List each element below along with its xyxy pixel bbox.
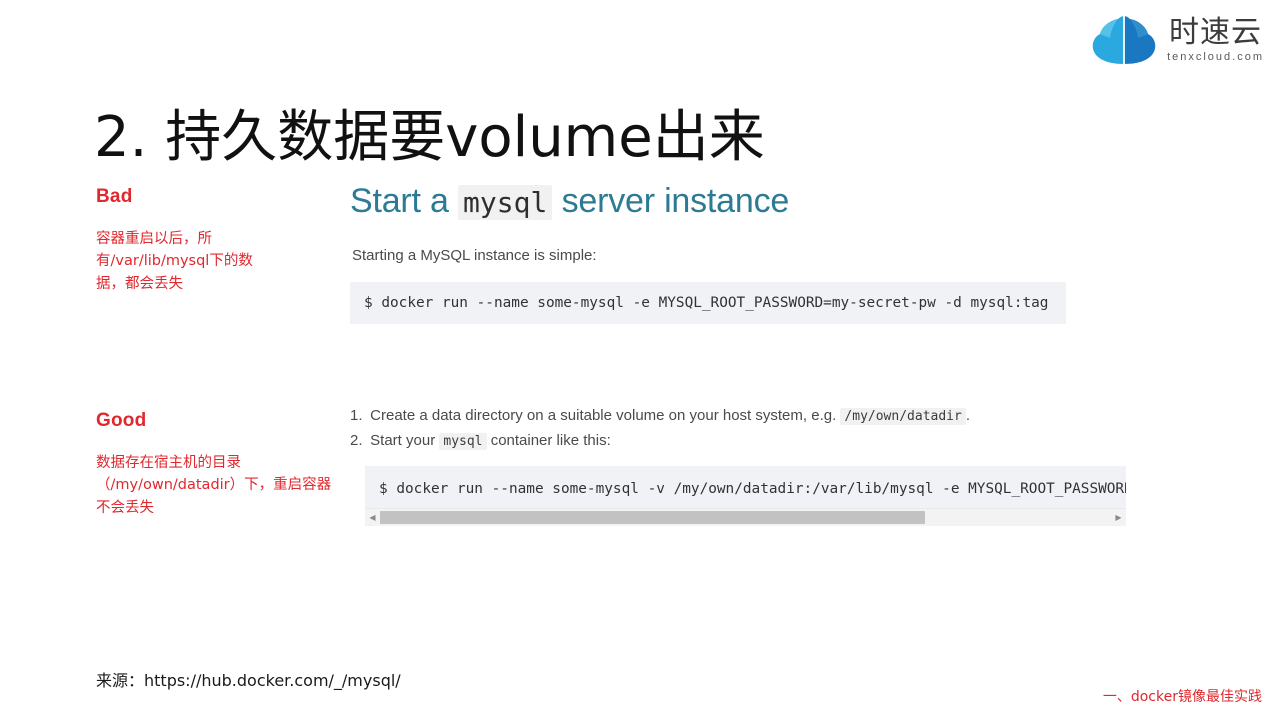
annotation-bad-label: Bad [96,186,278,208]
step-inline-code: mysql [439,433,486,450]
section-footer-label: 一、docker镜像最佳实践 [1103,686,1262,706]
cloud-logo-icon [1091,14,1157,66]
doc-steps-list: 1. Create a data directory on a suitable… [350,404,1140,454]
code-block-bad-text: $ docker run --name some-mysql -e MYSQL_… [364,295,1048,311]
list-item: 1. Create a data directory on a suitable… [350,404,1140,429]
code-block-good: $ docker run --name some-mysql -v /my/ow… [365,466,1126,526]
code-block-good-content: $ docker run --name some-mysql -v /my/ow… [365,466,1126,508]
horizontal-scrollbar[interactable]: ◀ ▶ [365,508,1126,526]
step-number: 2. [350,429,366,454]
code-block-bad: $ docker run --name some-mysql -e MYSQL_… [350,282,1066,324]
scroll-left-arrow-icon[interactable]: ◀ [365,514,380,522]
list-item: 2. Start your mysql container like this: [350,429,1140,454]
step-text-after: container like this: [491,432,611,449]
docker-hub-doc-excerpt: Start a mysql server instance Starting a… [350,180,1140,324]
annotation-good-label: Good [96,410,336,432]
step-text-after: . [966,407,970,424]
brand-domain: tenxcloud.com [1167,51,1264,63]
doc-heading-before: Start a [350,182,449,220]
annotation-bad: Bad 容器重启以后，所有/var/lib/mysql下的数据，都会丢失 [96,186,278,295]
source-reference: 来源：https://hub.docker.com/_/mysql/ [96,667,401,691]
brand-name-cn: 时速云 [1169,17,1262,49]
step-inline-code: /my/own/datadir [840,408,965,425]
scrollbar-thumb[interactable] [380,511,925,524]
doc-intro-text: Starting a MySQL instance is simple: [352,247,1140,264]
scrollbar-track[interactable] [380,511,1111,524]
step-number: 1. [350,404,366,429]
code-block-good-text: $ docker run --name some-mysql -v /my/ow… [379,481,1126,497]
doc-heading-inline-code: mysql [458,185,552,220]
doc-heading-after: server instance [562,182,790,220]
annotation-good-text: 数据存在宿主机的目录（/my/own/datadir）下，重启容器不会丢失 [96,452,336,519]
scroll-right-arrow-icon[interactable]: ▶ [1111,514,1126,522]
step-text-before: Create a data directory on a suitable vo… [370,407,836,424]
brand-logo: 时速云 tenxcloud.com [1091,14,1264,66]
step-text-before: Start your [370,432,435,449]
page-title: 2. 持久数据要volume出来 [94,104,765,171]
annotation-good: Good 数据存在宿主机的目录（/my/own/datadir）下，重启容器不会… [96,410,336,519]
brand-logo-text: 时速云 tenxcloud.com [1167,17,1264,63]
annotation-bad-text: 容器重启以后，所有/var/lib/mysql下的数据，都会丢失 [96,228,278,295]
doc-heading: Start a mysql server instance [350,180,1140,223]
